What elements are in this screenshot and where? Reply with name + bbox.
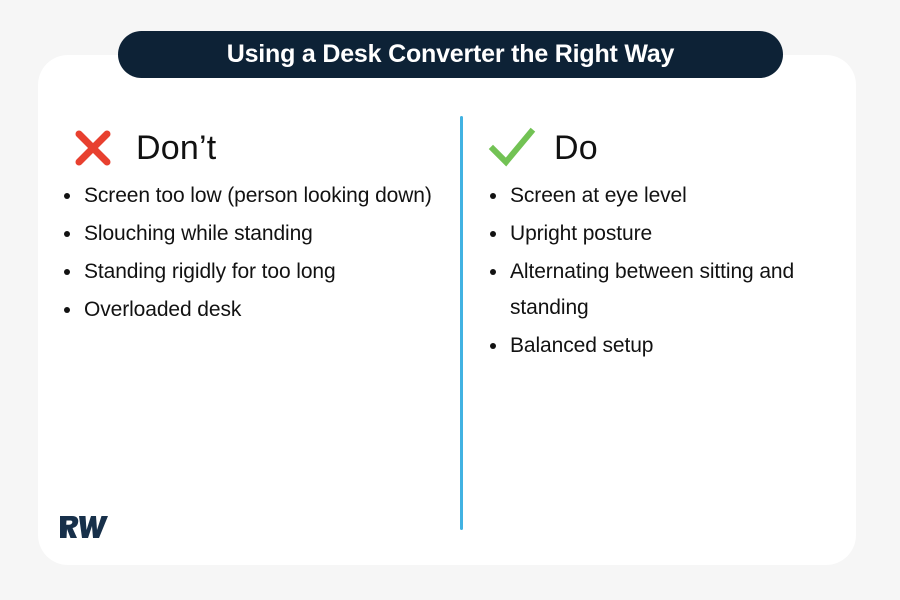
infographic-card: Using a Desk Converter the Right Way Don… [0, 0, 900, 600]
do-list: Screen at eye level Upright posture Alte… [486, 178, 838, 364]
title-banner: Using a Desk Converter the Right Way [118, 31, 783, 78]
list-item: Alternating between sitting and standing [486, 254, 838, 326]
list-item: Slouching while standing [60, 216, 432, 252]
list-item: Standing rigidly for too long [60, 254, 432, 290]
dont-list: Screen too low (person looking down) Slo… [60, 178, 432, 328]
list-item: Overloaded desk [60, 292, 432, 328]
column-do-header: Do [488, 118, 856, 178]
list-item: Upright posture [486, 216, 838, 252]
page-title: Using a Desk Converter the Right Way [227, 40, 675, 69]
rw-monogram-logo [58, 512, 116, 542]
list-item: Balanced setup [486, 328, 838, 364]
column-divider [460, 116, 463, 530]
list-item: Screen too low (person looking down) [60, 178, 432, 214]
column-do-title: Do [554, 131, 598, 165]
comparison-columns: Don’t Screen too low (person looking dow… [38, 100, 856, 545]
column-do: Do Screen at eye level Upright posture A… [460, 100, 856, 545]
column-dont: Don’t Screen too low (person looking dow… [38, 100, 460, 545]
column-dont-header: Don’t [72, 118, 460, 178]
check-mark-icon [488, 126, 536, 170]
cross-mark-icon [72, 127, 114, 169]
list-item: Screen at eye level [486, 178, 838, 214]
column-dont-title: Don’t [136, 131, 216, 165]
